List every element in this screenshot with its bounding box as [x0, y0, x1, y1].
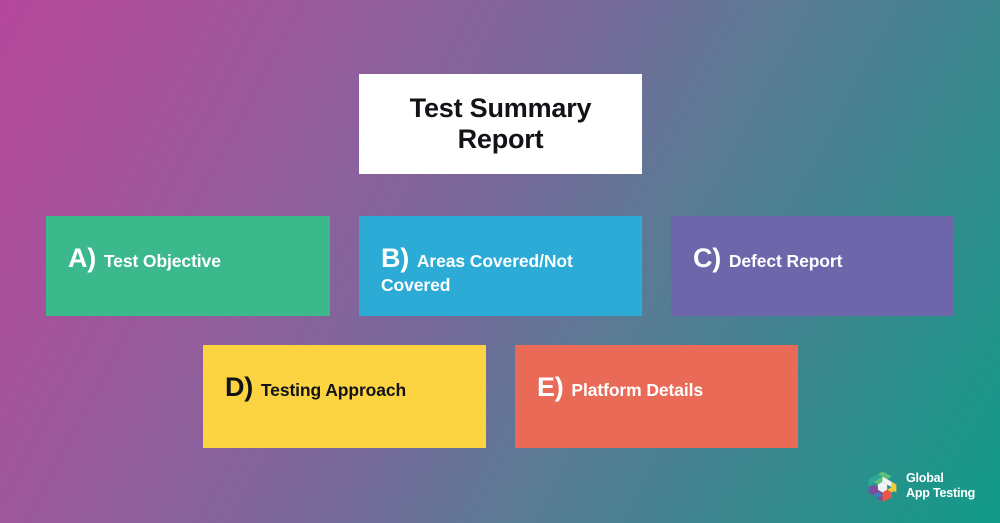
- infographic-canvas: Test Summary Report A)Test Objective B)A…: [0, 0, 1000, 523]
- step-card-c-content: C)Defect Report: [693, 242, 932, 275]
- step-card-b-content: B)Areas Covered/Not Covered: [381, 242, 620, 296]
- step-card-b-letter: B): [381, 243, 409, 273]
- hexagon-cluster-icon: [866, 470, 899, 503]
- page-title: Test Summary Report: [373, 93, 628, 156]
- step-card-a-content: A)Test Objective: [68, 242, 308, 275]
- step-card-d-letter: D): [225, 372, 253, 402]
- brand-logo-line2: App Testing: [906, 486, 975, 501]
- step-card-d-label: Testing Approach: [261, 380, 406, 400]
- step-card-e[interactable]: E)Platform Details: [515, 345, 798, 448]
- step-card-c[interactable]: C)Defect Report: [671, 216, 954, 316]
- step-card-d[interactable]: D)Testing Approach: [203, 345, 486, 448]
- step-card-a[interactable]: A)Test Objective: [46, 216, 330, 316]
- title-card: Test Summary Report: [359, 74, 642, 174]
- step-card-e-content: E)Platform Details: [537, 371, 776, 404]
- step-card-a-label: Test Objective: [104, 251, 221, 271]
- step-card-a-letter: A): [68, 243, 96, 273]
- step-card-b[interactable]: B)Areas Covered/Not Covered: [359, 216, 642, 316]
- step-card-d-content: D)Testing Approach: [225, 371, 464, 404]
- brand-logo-line1: Global: [906, 471, 975, 486]
- step-card-b-label: Areas Covered/Not Covered: [381, 251, 573, 295]
- step-card-c-letter: C): [693, 243, 721, 273]
- step-card-e-letter: E): [537, 372, 563, 402]
- step-card-e-label: Platform Details: [571, 380, 703, 400]
- step-card-c-label: Defect Report: [729, 251, 842, 271]
- brand-logo-text: Global App Testing: [906, 471, 975, 501]
- brand-logo: Global App Testing: [866, 465, 976, 507]
